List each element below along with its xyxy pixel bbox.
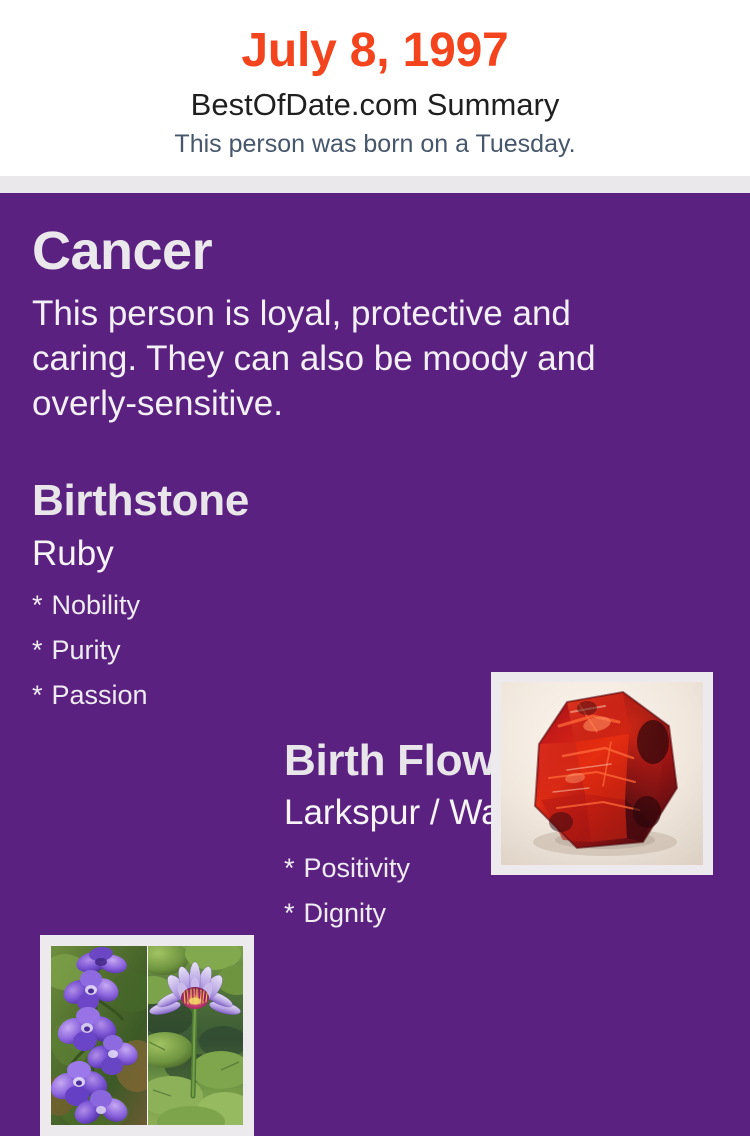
list-item-label: Passion bbox=[52, 680, 148, 710]
larkspur-photo bbox=[51, 946, 147, 1125]
water-lily-photo bbox=[147, 946, 243, 1125]
water-lily-illustration bbox=[147, 946, 243, 1125]
summary-card: July 8, 1997 BestOfDate.com Summary This… bbox=[0, 0, 750, 1000]
list-item-label: Nobility bbox=[52, 590, 141, 620]
bullet-star-icon: * bbox=[32, 680, 43, 710]
list-item-label: Positivity bbox=[304, 853, 411, 883]
card-header: July 8, 1997 BestOfDate.com Summary This… bbox=[0, 0, 750, 176]
zodiac-sign-name: Cancer bbox=[32, 220, 212, 282]
birthstone-heading: Birthstone bbox=[32, 475, 249, 527]
birthstone-image bbox=[501, 682, 703, 865]
zodiac-description: This person is loyal, protective and car… bbox=[32, 291, 652, 426]
birth-flower-image bbox=[51, 946, 243, 1125]
list-item-label: Dignity bbox=[304, 898, 387, 928]
list-item: *Nobility bbox=[32, 583, 452, 628]
list-item: *Dignity bbox=[284, 891, 734, 936]
ruby-gemstone-illustration bbox=[501, 682, 703, 865]
birth-flower-image-frame bbox=[40, 935, 254, 1136]
birthstone-image-frame bbox=[491, 672, 713, 875]
bullet-star-icon: * bbox=[284, 853, 295, 883]
birthstone-trait-list: *Nobility *Purity *Passion bbox=[32, 583, 452, 718]
list-item: *Passion bbox=[32, 673, 452, 718]
bullet-star-icon: * bbox=[32, 635, 43, 665]
larkspur-illustration bbox=[51, 946, 147, 1125]
details-panel: Cancer This person is loyal, protective … bbox=[0, 193, 750, 1000]
image-split-divider bbox=[147, 946, 148, 1125]
list-item-label: Purity bbox=[52, 635, 121, 665]
born-weekday-note: This person was born on a Tuesday. bbox=[0, 128, 750, 160]
bullet-star-icon: * bbox=[284, 898, 295, 928]
header-divider bbox=[0, 176, 750, 193]
birthstone-name: Ruby bbox=[32, 532, 114, 575]
page-title-date: July 8, 1997 bbox=[0, 22, 750, 80]
list-item: *Purity bbox=[32, 628, 452, 673]
bullet-star-icon: * bbox=[32, 590, 43, 620]
site-summary-label: BestOfDate.com Summary bbox=[0, 86, 750, 124]
